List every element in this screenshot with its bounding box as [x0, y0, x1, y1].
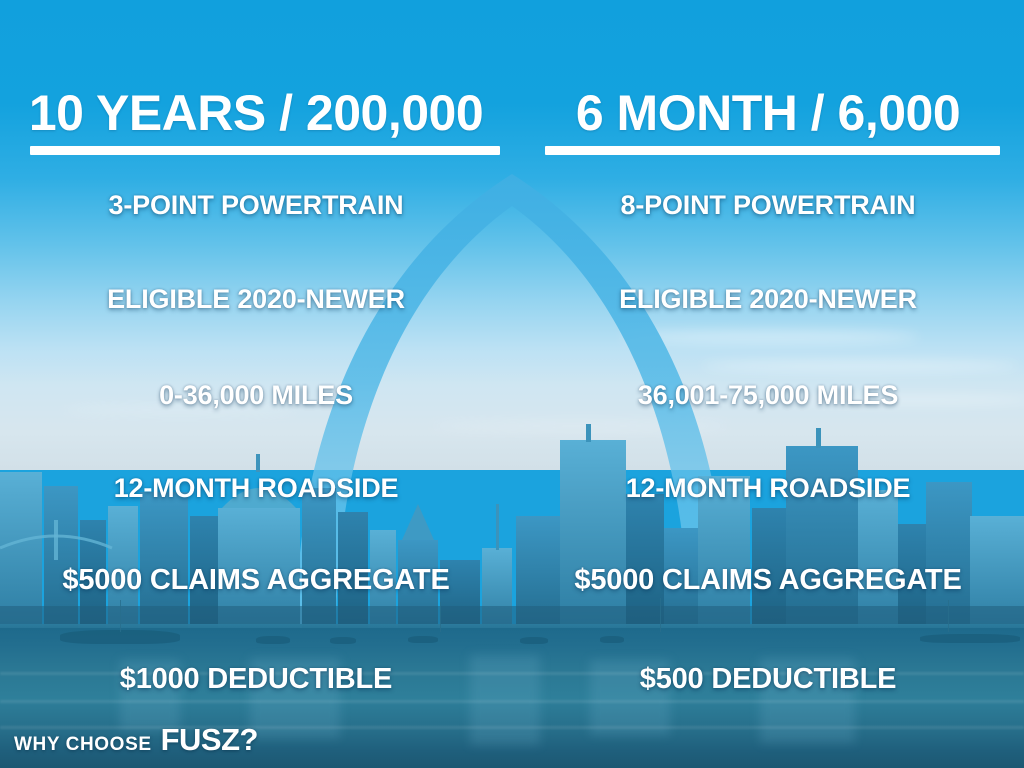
plan-headline: 10 YEARS / 200,000 [0, 88, 512, 138]
feature-claims-aggregate: $5000 CLAIMS AGGREGATE [0, 564, 512, 597]
plan-column-6-month: 6 MONTH / 6,000 8-POINT POWERTRAIN ELIGI… [512, 0, 1024, 768]
feature-roadside: 12-MONTH ROADSIDE [0, 473, 512, 504]
feature-mileage: 0-36,000 MILES [0, 380, 512, 411]
plan-headline: 6 MONTH / 6,000 [512, 88, 1024, 138]
feature-powertrain: 3-POINT POWERTRAIN [0, 190, 512, 221]
slide-canvas: 10 YEARS / 200,000 3-POINT POWERTRAIN EL… [0, 0, 1024, 768]
plan-comparison: 10 YEARS / 200,000 3-POINT POWERTRAIN EL… [0, 0, 1024, 768]
footer-brand: FUSZ? [161, 722, 258, 758]
feature-powertrain: 8-POINT POWERTRAIN [512, 190, 1024, 221]
footer-branding: WHY CHOOSE FUSZ? [14, 722, 258, 758]
plan-column-10-year: 10 YEARS / 200,000 3-POINT POWERTRAIN EL… [0, 0, 512, 768]
feature-deductible: $500 DEDUCTIBLE [512, 663, 1024, 696]
headline-underline [545, 146, 1000, 155]
feature-eligibility: ELIGIBLE 2020-NEWER [0, 284, 512, 315]
footer-prefix: WHY CHOOSE [14, 734, 152, 756]
feature-mileage: 36,001-75,000 MILES [512, 380, 1024, 411]
feature-eligibility: ELIGIBLE 2020-NEWER [512, 284, 1024, 315]
feature-claims-aggregate: $5000 CLAIMS AGGREGATE [512, 564, 1024, 597]
feature-roadside: 12-MONTH ROADSIDE [512, 473, 1024, 504]
feature-deductible: $1000 DEDUCTIBLE [0, 663, 512, 696]
headline-underline [30, 146, 500, 155]
